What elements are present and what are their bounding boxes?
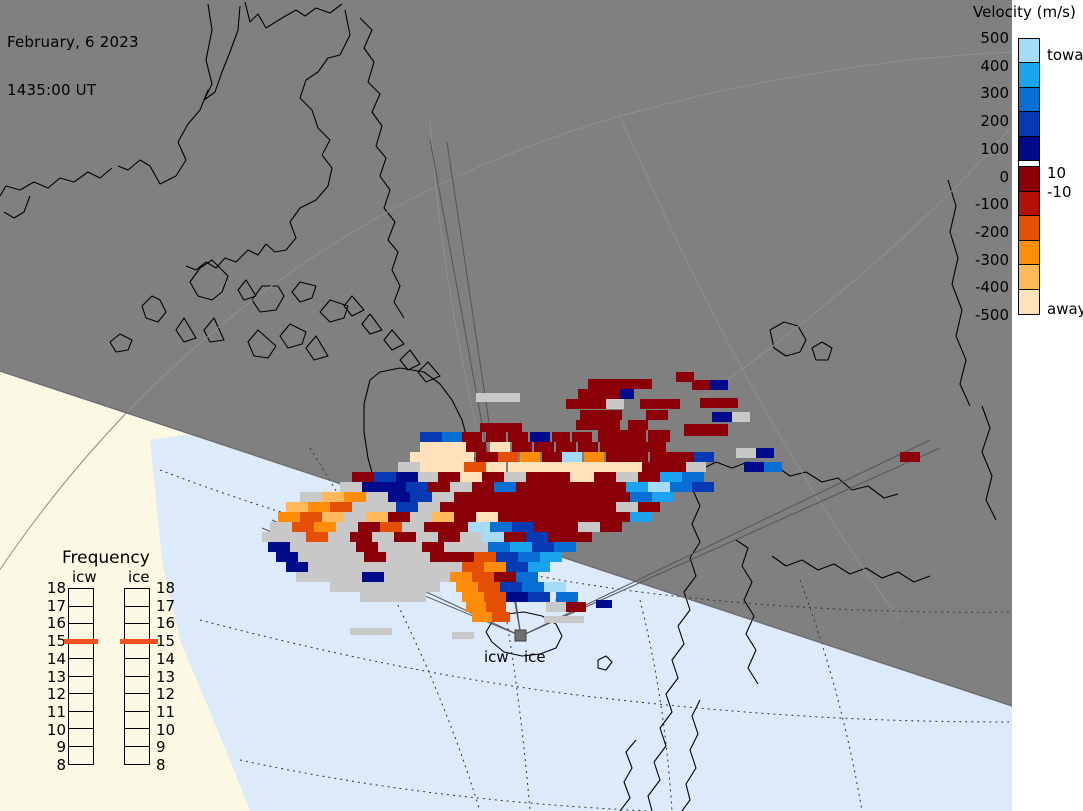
velocity-cell[interactable] — [616, 502, 638, 512]
velocity-cell[interactable] — [692, 380, 710, 390]
velocity-cell[interactable] — [396, 562, 418, 572]
velocity-cell[interactable] — [416, 532, 438, 542]
velocity-cell[interactable] — [322, 512, 344, 522]
velocity-cell[interactable] — [576, 420, 600, 430]
frequency-tick-right-12: 12 — [156, 685, 175, 703]
velocity-cell[interactable] — [756, 448, 774, 458]
velocity-cell[interactable] — [508, 432, 528, 442]
velocity-cell[interactable] — [410, 492, 432, 502]
velocity-cell[interactable] — [460, 472, 482, 482]
velocity-cell[interactable] — [606, 452, 628, 462]
velocity-cell[interactable] — [526, 532, 548, 542]
velocity-cell[interactable] — [520, 452, 540, 462]
velocity-cell[interactable] — [532, 542, 554, 552]
velocity-cell[interactable] — [646, 410, 668, 420]
velocity-cell[interactable] — [462, 592, 484, 602]
velocity-tick-500: 500 — [980, 29, 1009, 47]
velocity-cell[interactable] — [284, 532, 306, 542]
velocity-cell[interactable] — [486, 462, 506, 472]
velocity-cell[interactable] — [670, 482, 692, 492]
velocity-cell[interactable] — [526, 472, 548, 482]
velocity-cell[interactable] — [664, 462, 686, 472]
velocity-cell[interactable] — [548, 472, 570, 482]
velocity-cell[interactable] — [564, 512, 586, 522]
velocity-cell[interactable] — [598, 389, 620, 399]
velocity-cell[interactable] — [318, 572, 340, 582]
velocity-cell[interactable] — [502, 423, 522, 432]
velocity-cell[interactable] — [454, 452, 474, 462]
velocity-cell[interactable] — [602, 410, 622, 420]
velocity-cell[interactable] — [428, 572, 450, 582]
velocity-cell[interactable] — [600, 522, 622, 532]
velocity-cell[interactable] — [600, 420, 620, 430]
velocity-cell[interactable] — [312, 542, 334, 552]
velocity-cell[interactable] — [580, 410, 602, 420]
velocity-cell[interactable] — [516, 572, 538, 582]
velocity-cell[interactable] — [340, 572, 362, 582]
velocity-cell[interactable] — [410, 512, 432, 522]
velocity-cell[interactable] — [372, 628, 392, 635]
map-canvas[interactable]: February, 6 2023 1435:00 UT icw ice Freq… — [0, 0, 1012, 811]
velocity-cell[interactable] — [548, 532, 570, 542]
velocity-cell[interactable] — [364, 552, 386, 562]
velocity-cell[interactable] — [484, 562, 506, 572]
velocity-cell[interactable] — [450, 482, 472, 492]
velocity-cell[interactable] — [472, 482, 494, 492]
velocity-cell[interactable] — [440, 502, 462, 512]
velocity-cell[interactable] — [498, 452, 518, 462]
velocity-cell[interactable] — [482, 532, 504, 542]
velocity-cell[interactable] — [600, 442, 622, 452]
velocity-cell[interactable] — [394, 532, 416, 542]
velocity-cell[interactable] — [352, 472, 374, 482]
velocity-cell[interactable] — [462, 432, 482, 442]
velocity-label-minus10: -10 — [1047, 183, 1072, 201]
velocity-cell[interactable] — [406, 572, 428, 582]
velocity-cell[interactable] — [712, 412, 732, 422]
velocity-cell[interactable] — [306, 532, 328, 542]
velocity-cell[interactable] — [544, 582, 566, 592]
velocity-cell[interactable] — [518, 552, 540, 562]
velocity-cell[interactable] — [630, 492, 652, 502]
velocity-cell[interactable] — [476, 512, 498, 522]
velocity-cell[interactable] — [462, 502, 484, 512]
velocity-cell[interactable] — [538, 482, 560, 492]
velocity-cell[interactable] — [736, 448, 756, 458]
velocity-cell[interactable] — [452, 632, 474, 639]
velocity-cell[interactable] — [352, 502, 374, 512]
timestamp-time: 1435:00 UT — [7, 82, 139, 98]
velocity-cell[interactable] — [358, 522, 380, 532]
velocity-cell[interactable] — [542, 512, 564, 522]
radar-site-marker[interactable] — [515, 630, 526, 641]
velocity-cell[interactable] — [396, 582, 418, 592]
velocity-cell[interactable] — [498, 512, 520, 522]
velocity-cell[interactable] — [572, 432, 592, 442]
velocity-cell[interactable] — [506, 562, 528, 572]
velocity-cell[interactable] — [490, 442, 510, 452]
velocity-colorbar[interactable] — [1018, 38, 1040, 315]
velocity-cell[interactable] — [418, 582, 440, 592]
velocity-cell[interactable] — [620, 389, 634, 399]
velocity-cell[interactable] — [622, 442, 644, 452]
velocity-tick-200: 200 — [980, 112, 1009, 130]
velocity-cell[interactable] — [504, 532, 526, 542]
velocity-cell[interactable] — [570, 532, 592, 542]
velocity-cell[interactable] — [464, 462, 486, 472]
velocity-cell[interactable] — [542, 492, 564, 502]
velocity-cell[interactable] — [472, 572, 494, 582]
velocity-cell[interactable] — [534, 522, 556, 532]
velocity-cell[interactable] — [564, 492, 586, 502]
velocity-cell[interactable] — [544, 616, 566, 623]
velocity-cell[interactable] — [432, 512, 454, 522]
velocity-cell[interactable] — [620, 462, 642, 472]
velocity-cell[interactable] — [440, 562, 462, 572]
velocity-cell[interactable] — [336, 522, 358, 532]
velocity-cell[interactable] — [900, 452, 920, 462]
velocity-cell[interactable] — [684, 424, 708, 436]
velocity-cell[interactable] — [648, 482, 670, 492]
velocity-cell[interactable] — [478, 582, 500, 592]
velocity-tick--300: -300 — [975, 251, 1009, 269]
velocity-cell[interactable] — [624, 430, 646, 442]
velocity-cell[interactable] — [396, 502, 418, 512]
velocity-cell[interactable] — [342, 552, 364, 562]
velocity-cell[interactable] — [384, 572, 406, 582]
velocity-cell[interactable] — [566, 602, 586, 612]
velocity-cell[interactable] — [308, 562, 330, 572]
velocity-cell[interactable] — [386, 552, 408, 562]
velocity-cell[interactable] — [494, 482, 516, 492]
velocity-cell[interactable] — [566, 399, 584, 409]
velocity-cell[interactable] — [352, 562, 374, 572]
velocity-cell[interactable] — [322, 492, 344, 502]
velocity-cell[interactable] — [562, 452, 582, 462]
velocity-cell[interactable] — [350, 532, 372, 542]
velocity-cell[interactable] — [608, 492, 630, 502]
velocity-cell[interactable] — [268, 542, 290, 552]
velocity-cell[interactable] — [444, 442, 466, 452]
velocity-cell[interactable] — [290, 542, 312, 552]
velocity-cell[interactable] — [430, 552, 452, 562]
velocity-cell[interactable] — [432, 452, 454, 462]
velocity-cell[interactable] — [420, 442, 444, 452]
velocity-cell[interactable] — [638, 472, 660, 482]
velocity-cell[interactable] — [476, 452, 498, 462]
velocity-cell[interactable] — [556, 592, 578, 602]
velocity-cell[interactable] — [556, 442, 576, 452]
velocity-cell[interactable] — [520, 512, 542, 522]
velocity-cell[interactable] — [572, 502, 594, 512]
velocity-cell[interactable] — [710, 380, 728, 390]
velocity-cell[interactable] — [608, 512, 630, 522]
velocity-cell[interactable] — [362, 572, 384, 582]
velocity-cell[interactable] — [276, 552, 298, 562]
velocity-cell[interactable] — [612, 379, 634, 389]
velocity-cell[interactable] — [410, 452, 432, 462]
velocity-cell[interactable] — [380, 522, 402, 532]
velocity-cell[interactable] — [554, 542, 576, 552]
velocity-cell[interactable] — [270, 522, 292, 532]
velocity-cell[interactable] — [450, 572, 472, 582]
velocity-cell[interactable] — [528, 592, 550, 602]
velocity-cell[interactable] — [474, 552, 496, 562]
velocity-cell[interactable] — [506, 592, 528, 602]
velocity-cell[interactable] — [596, 462, 620, 472]
velocity-cell[interactable] — [340, 482, 362, 492]
velocity-cell[interactable] — [528, 562, 550, 572]
velocity-cell[interactable] — [508, 462, 530, 472]
velocity-cell[interactable] — [584, 399, 606, 409]
velocity-cell[interactable] — [402, 522, 424, 532]
velocity-cell[interactable] — [374, 472, 396, 482]
velocity-cell[interactable] — [396, 472, 418, 482]
velocity-cell[interactable] — [484, 502, 506, 512]
velocity-cell[interactable] — [452, 552, 474, 562]
velocity-cell[interactable] — [486, 602, 506, 612]
velocity-cell[interactable] — [534, 442, 554, 452]
velocity-cell[interactable] — [400, 542, 422, 552]
velocity-cell[interactable] — [456, 582, 478, 592]
velocity-label-away: away — [1047, 300, 1083, 318]
velocity-cell[interactable] — [388, 512, 410, 522]
velocity-cell[interactable] — [362, 482, 384, 492]
frequency-bar-icw[interactable] — [68, 588, 94, 765]
velocity-cell[interactable] — [378, 542, 400, 552]
velocity-cell[interactable] — [642, 462, 664, 472]
velocity-cell[interactable] — [530, 432, 550, 442]
velocity-cell[interactable] — [420, 462, 442, 472]
velocity-cell[interactable] — [320, 552, 342, 562]
velocity-cell[interactable] — [446, 522, 468, 532]
velocity-cell[interactable] — [516, 482, 538, 492]
velocity-cell[interactable] — [616, 472, 638, 482]
velocity-cell[interactable] — [442, 432, 462, 442]
velocity-cell[interactable] — [468, 522, 490, 532]
velocity-cell[interactable] — [406, 482, 428, 492]
velocity-cell[interactable] — [574, 462, 596, 472]
velocity-cell[interactable] — [626, 482, 648, 492]
velocity-cell[interactable] — [486, 432, 506, 442]
velocity-cell[interactable] — [350, 628, 372, 635]
velocity-cell[interactable] — [278, 512, 300, 522]
velocity-cell[interactable] — [672, 452, 694, 462]
velocity-cell[interactable] — [286, 562, 308, 572]
frequency-bar-ice[interactable] — [124, 588, 150, 765]
velocity-cell[interactable] — [566, 616, 584, 623]
velocity-cell[interactable] — [296, 572, 318, 582]
velocity-cell[interactable] — [374, 582, 396, 592]
velocity-cell[interactable] — [372, 532, 394, 542]
velocity-cell[interactable] — [490, 522, 512, 532]
velocity-cell[interactable] — [466, 602, 486, 612]
frequency-segment — [125, 677, 149, 695]
velocity-cell[interactable] — [482, 472, 504, 482]
velocity-cell[interactable] — [494, 572, 516, 582]
velocity-cell[interactable] — [460, 532, 482, 542]
velocity-cell[interactable] — [366, 512, 388, 522]
velocity-cell[interactable] — [744, 462, 764, 472]
velocity-cell[interactable] — [438, 472, 460, 482]
velocity-cell[interactable] — [334, 542, 356, 552]
velocity-cell[interactable] — [374, 502, 396, 512]
velocity-cell[interactable] — [300, 492, 322, 502]
velocity-cell[interactable] — [700, 398, 720, 408]
velocity-cell[interactable] — [556, 522, 578, 532]
velocity-cell[interactable] — [502, 393, 520, 402]
velocity-cell[interactable] — [510, 542, 532, 552]
velocity-cell[interactable] — [330, 562, 352, 572]
velocity-cell[interactable] — [640, 399, 662, 409]
velocity-tick-0: 0 — [999, 168, 1009, 186]
velocity-cell[interactable] — [418, 472, 438, 482]
velocity-cell[interactable] — [442, 462, 464, 472]
velocity-cell[interactable] — [444, 542, 466, 552]
velocity-cell[interactable] — [552, 432, 570, 442]
velocity-cell[interactable] — [454, 512, 476, 522]
velocity-cell[interactable] — [540, 552, 562, 562]
velocity-cell[interactable] — [344, 492, 366, 502]
velocity-cell[interactable] — [328, 532, 350, 542]
velocity-cell[interactable] — [418, 562, 440, 572]
velocity-cell[interactable] — [262, 532, 284, 542]
velocity-cell[interactable] — [648, 430, 670, 442]
velocity-cell[interactable] — [586, 492, 608, 502]
velocity-cell[interactable] — [292, 522, 314, 532]
velocity-cell[interactable] — [578, 522, 600, 532]
velocity-cell[interactable] — [466, 542, 488, 552]
velocity-cell[interactable] — [492, 612, 510, 622]
velocity-cell[interactable] — [520, 492, 542, 502]
velocity-cell[interactable] — [528, 502, 550, 512]
velocity-tick-400: 400 — [980, 57, 1009, 75]
velocity-cell[interactable] — [382, 592, 404, 602]
velocity-cell[interactable] — [650, 452, 672, 462]
velocity-cell[interactable] — [682, 472, 704, 482]
velocity-cell[interactable] — [594, 502, 616, 512]
velocity-cell[interactable] — [360, 592, 382, 602]
velocity-cell[interactable] — [606, 399, 624, 409]
velocity-cell[interactable] — [594, 472, 616, 482]
velocity-cell[interactable] — [708, 424, 728, 436]
velocity-cell[interactable] — [308, 502, 330, 512]
frequency-bar-label-icw: icw — [72, 568, 97, 586]
velocity-cell[interactable] — [644, 442, 666, 452]
velocity-cell[interactable] — [570, 472, 594, 482]
velocity-cell[interactable] — [550, 502, 572, 512]
velocity-cell[interactable] — [560, 482, 582, 492]
velocity-cell[interactable] — [484, 592, 506, 602]
velocity-cell[interactable] — [408, 552, 430, 562]
velocity-cell[interactable] — [720, 398, 738, 408]
velocity-cell[interactable] — [542, 452, 562, 462]
velocity-cell[interactable] — [692, 482, 714, 492]
velocity-cell[interactable] — [598, 430, 624, 442]
velocity-cell[interactable] — [628, 452, 648, 462]
velocity-cell[interactable] — [506, 502, 528, 512]
frequency-legend-title: Frequency — [62, 548, 150, 568]
velocity-cell[interactable] — [512, 442, 532, 452]
velocity-cell[interactable] — [498, 492, 520, 502]
velocity-cell[interactable] — [314, 522, 336, 532]
velocity-cell[interactable] — [472, 612, 492, 622]
velocity-cell[interactable] — [504, 472, 526, 482]
frequency-tick-right-17: 17 — [156, 597, 175, 615]
velocity-cell[interactable] — [628, 420, 648, 430]
velocity-cell[interactable] — [676, 372, 694, 382]
velocity-cell[interactable] — [488, 542, 510, 552]
velocity-cell[interactable] — [512, 522, 534, 532]
velocity-cell[interactable] — [388, 492, 410, 502]
velocity-cell[interactable] — [660, 472, 682, 482]
velocity-cell[interactable] — [500, 582, 522, 592]
velocity-cell[interactable] — [454, 492, 476, 502]
velocity-cell[interactable] — [424, 522, 446, 532]
velocity-cell[interactable] — [330, 582, 352, 592]
velocity-cell[interactable] — [476, 492, 498, 502]
velocity-cell[interactable] — [732, 412, 750, 422]
velocity-cell[interactable] — [398, 462, 420, 472]
velocity-cell[interactable] — [352, 582, 374, 592]
velocity-cell[interactable] — [604, 482, 626, 492]
velocity-cell[interactable] — [596, 600, 612, 608]
velocity-cell[interactable] — [300, 512, 322, 522]
velocity-cell[interactable] — [418, 502, 440, 512]
velocity-cell[interactable] — [438, 532, 460, 542]
velocity-cell[interactable] — [366, 492, 388, 502]
velocity-cell[interactable] — [330, 502, 352, 512]
velocity-cell[interactable] — [578, 389, 598, 399]
velocity-cell[interactable] — [432, 492, 454, 502]
velocity-cell[interactable] — [686, 462, 706, 472]
velocity-cell[interactable] — [584, 452, 604, 462]
velocity-cell[interactable] — [420, 432, 442, 442]
velocity-cell[interactable] — [462, 562, 484, 572]
velocity-cell[interactable] — [466, 442, 486, 452]
velocity-cell[interactable] — [764, 462, 782, 472]
velocity-cell[interactable] — [582, 482, 604, 492]
velocity-cell[interactable] — [530, 462, 550, 472]
velocity-cell[interactable] — [550, 462, 574, 472]
velocity-cell[interactable] — [428, 482, 450, 492]
velocity-cell[interactable] — [480, 423, 502, 432]
velocity-cell[interactable] — [384, 482, 406, 492]
velocity-cell[interactable] — [356, 542, 378, 552]
velocity-cell[interactable] — [578, 442, 598, 452]
velocity-cell[interactable] — [476, 393, 502, 402]
velocity-cell[interactable] — [652, 492, 674, 502]
velocity-cell[interactable] — [404, 592, 426, 602]
velocity-cell[interactable] — [496, 552, 518, 562]
frequency-tick-left-13: 13 — [46, 668, 66, 686]
velocity-cell[interactable] — [546, 602, 566, 612]
frequency-segment — [69, 589, 93, 607]
velocity-cell[interactable] — [374, 562, 396, 572]
velocity-cell[interactable] — [662, 399, 680, 409]
velocity-cell[interactable] — [422, 542, 444, 552]
velocity-cell[interactable] — [630, 512, 652, 522]
velocity-cell[interactable] — [344, 512, 366, 522]
velocity-cell[interactable] — [694, 452, 714, 462]
velocity-cell[interactable] — [634, 379, 652, 389]
velocity-cell[interactable] — [298, 552, 320, 562]
velocity-cell[interactable] — [522, 582, 544, 592]
velocity-cell[interactable] — [586, 512, 608, 522]
velocity-cell[interactable] — [588, 379, 612, 389]
velocity-cell[interactable] — [638, 502, 660, 512]
velocity-cell[interactable] — [286, 502, 308, 512]
